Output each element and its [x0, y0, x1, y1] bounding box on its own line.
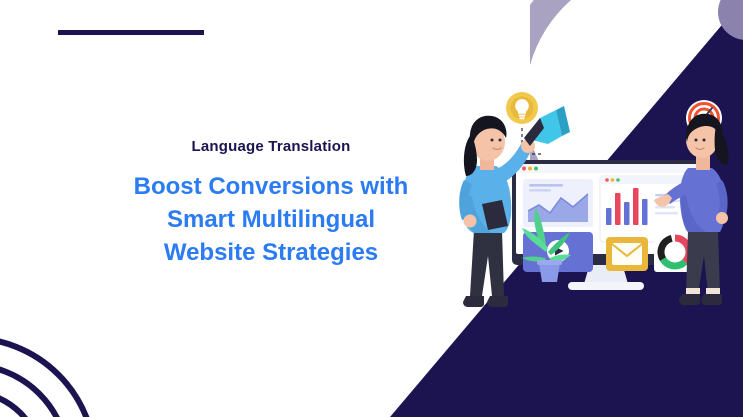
headline-line-3: Website Strategies [164, 239, 378, 266]
area-chart-card [523, 179, 593, 227]
headline-line-1: Boost Conversions with [134, 173, 409, 200]
eyebrow-label: Language Translation [118, 138, 424, 156]
page-title: Boost Conversions with Smart Multilingua… [118, 170, 424, 269]
banner-root: Language Translation Boost Conversions w… [0, 0, 743, 417]
marketing-team-illustration [440, 80, 743, 320]
email-icon-card [606, 237, 648, 271]
bottom-left-arcs-decoration [0, 283, 170, 417]
top-left-bar-decoration [58, 30, 204, 35]
headline-text-block: Language Translation Boost Conversions w… [118, 138, 424, 269]
headline-line-2: Smart Multilingual [167, 206, 375, 233]
